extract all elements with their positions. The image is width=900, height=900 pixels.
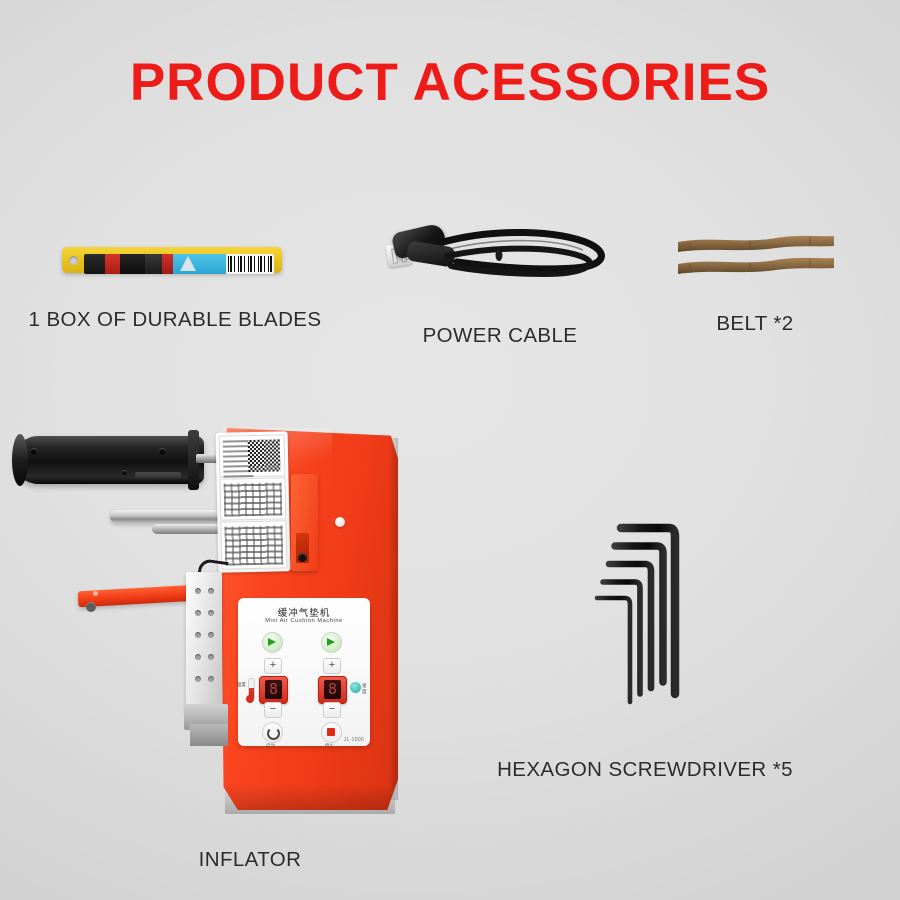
- spec-sticker: [216, 431, 291, 572]
- thermometer-bulb-icon: [246, 695, 254, 703]
- power-cable-icon: [385, 222, 615, 294]
- run-button[interactable]: [262, 722, 283, 743]
- minus-button-left[interactable]: −: [264, 702, 282, 718]
- blade-triangle-graphic: [180, 256, 196, 271]
- sticker-detail-text: [225, 525, 284, 565]
- page-title: PRODUCT ACESSORIES: [0, 52, 900, 113]
- minus-button-right[interactable]: −: [323, 702, 341, 718]
- blade-hang-hole: [69, 256, 78, 265]
- red-lever-arm[interactable]: [78, 585, 199, 608]
- barrel-groove: [135, 472, 181, 480]
- perforated-bracket: [186, 572, 222, 714]
- lever-rivet: [93, 591, 98, 596]
- caption-inflator: INFLATOR: [120, 848, 380, 872]
- latch-knob[interactable]: [298, 553, 307, 562]
- barrel-hole: [159, 448, 166, 455]
- panel-model-number: JL-1000: [344, 737, 364, 743]
- blade-box-icon: [62, 243, 282, 277]
- belt-icon: [672, 228, 842, 288]
- indicator-led: [335, 517, 345, 527]
- body-right-edge: [388, 438, 398, 800]
- cable-cord: [385, 222, 615, 294]
- product-accessories-page: PRODUCT ACESSORIES 1 BOX OF DURABLE BLAD…: [0, 0, 900, 900]
- blade-case: [62, 247, 282, 273]
- label-start: 启动: [266, 743, 275, 749]
- label-speed: 速度: [362, 683, 370, 695]
- qr-code-icon: [248, 439, 281, 472]
- barrel-end-cap: [12, 434, 28, 486]
- panel-title-cn: 缓冲气垫机: [238, 605, 370, 619]
- caption-power-cable: POWER CABLE: [370, 324, 630, 348]
- display-speed: 8: [318, 676, 347, 704]
- fan-speed-icon: [350, 682, 361, 693]
- control-panel: 缓冲气垫机 Mini Air Cushion Machine + + 温度 8 …: [238, 598, 370, 746]
- belt-pair: [672, 228, 842, 288]
- plus-button-left[interactable]: +: [264, 658, 282, 674]
- body-bottom-shading: [225, 784, 395, 814]
- start-button-left[interactable]: [262, 632, 283, 653]
- sticker-spec-text: [224, 482, 283, 516]
- blade-label-strip: [84, 254, 274, 274]
- display-temperature-value: 8: [265, 680, 282, 699]
- plus-button-right[interactable]: +: [323, 658, 341, 674]
- barcode-icon: [228, 256, 272, 272]
- caption-hex-keys: HEXAGON SCREWDRIVER *5: [490, 758, 800, 782]
- caption-belt: BELT *2: [650, 312, 860, 336]
- display-speed-value: 8: [324, 680, 341, 699]
- display-temperature: 8: [259, 676, 288, 704]
- bracket-foot-lower: [190, 724, 228, 746]
- label-temperature: 温度: [232, 682, 246, 688]
- lever-pivot-pin: [86, 602, 96, 612]
- hex-key-set: [585, 512, 700, 727]
- start-button-right[interactable]: [321, 632, 342, 653]
- stop-button[interactable]: [321, 722, 342, 743]
- panel-title-en: Mini Air Cushion Machine: [238, 618, 370, 624]
- label-stop: 停止: [325, 743, 334, 749]
- barrel-hole: [30, 448, 37, 455]
- caption-blades: 1 BOX OF DURABLE BLADES: [0, 308, 350, 332]
- barrel-hole: [122, 470, 127, 475]
- inflator-machine-icon: 缓冲气垫机 Mini Air Cushion Machine + + 温度 8 …: [0, 412, 440, 842]
- hex-key-icon: [585, 512, 700, 727]
